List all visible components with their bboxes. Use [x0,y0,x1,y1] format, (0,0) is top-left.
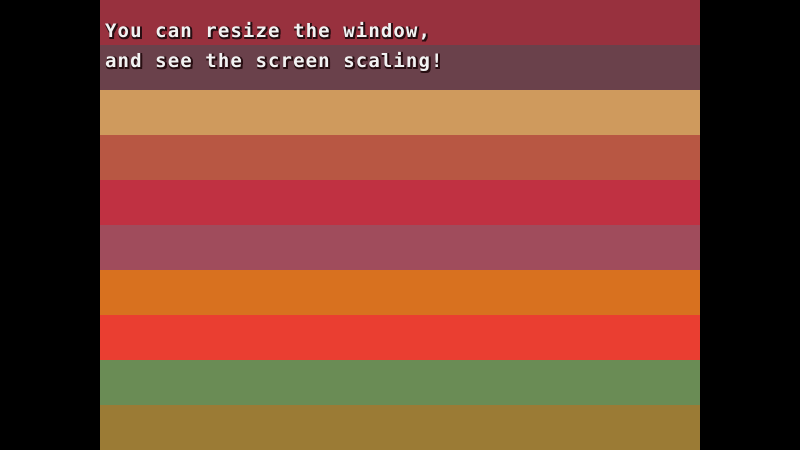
game-viewport[interactable]: You can resize the window, and see the s… [100,0,700,450]
letterbox-bar-right [700,0,800,450]
stripe-red-orange [100,315,700,360]
stripe-olive [100,405,700,450]
stripe-terracotta [100,135,700,180]
stripe-crimson [100,180,700,225]
stripe-green [100,360,700,405]
stripe-orange [100,270,700,315]
stripe-stack [100,0,700,450]
stripe-dark-crimson [100,0,700,45]
stripe-dusty-rose [100,225,700,270]
stripe-mauve [100,45,700,90]
letterbox-bar-left [0,0,100,450]
app-window: You can resize the window, and see the s… [0,0,800,450]
stripe-tan [100,90,700,135]
